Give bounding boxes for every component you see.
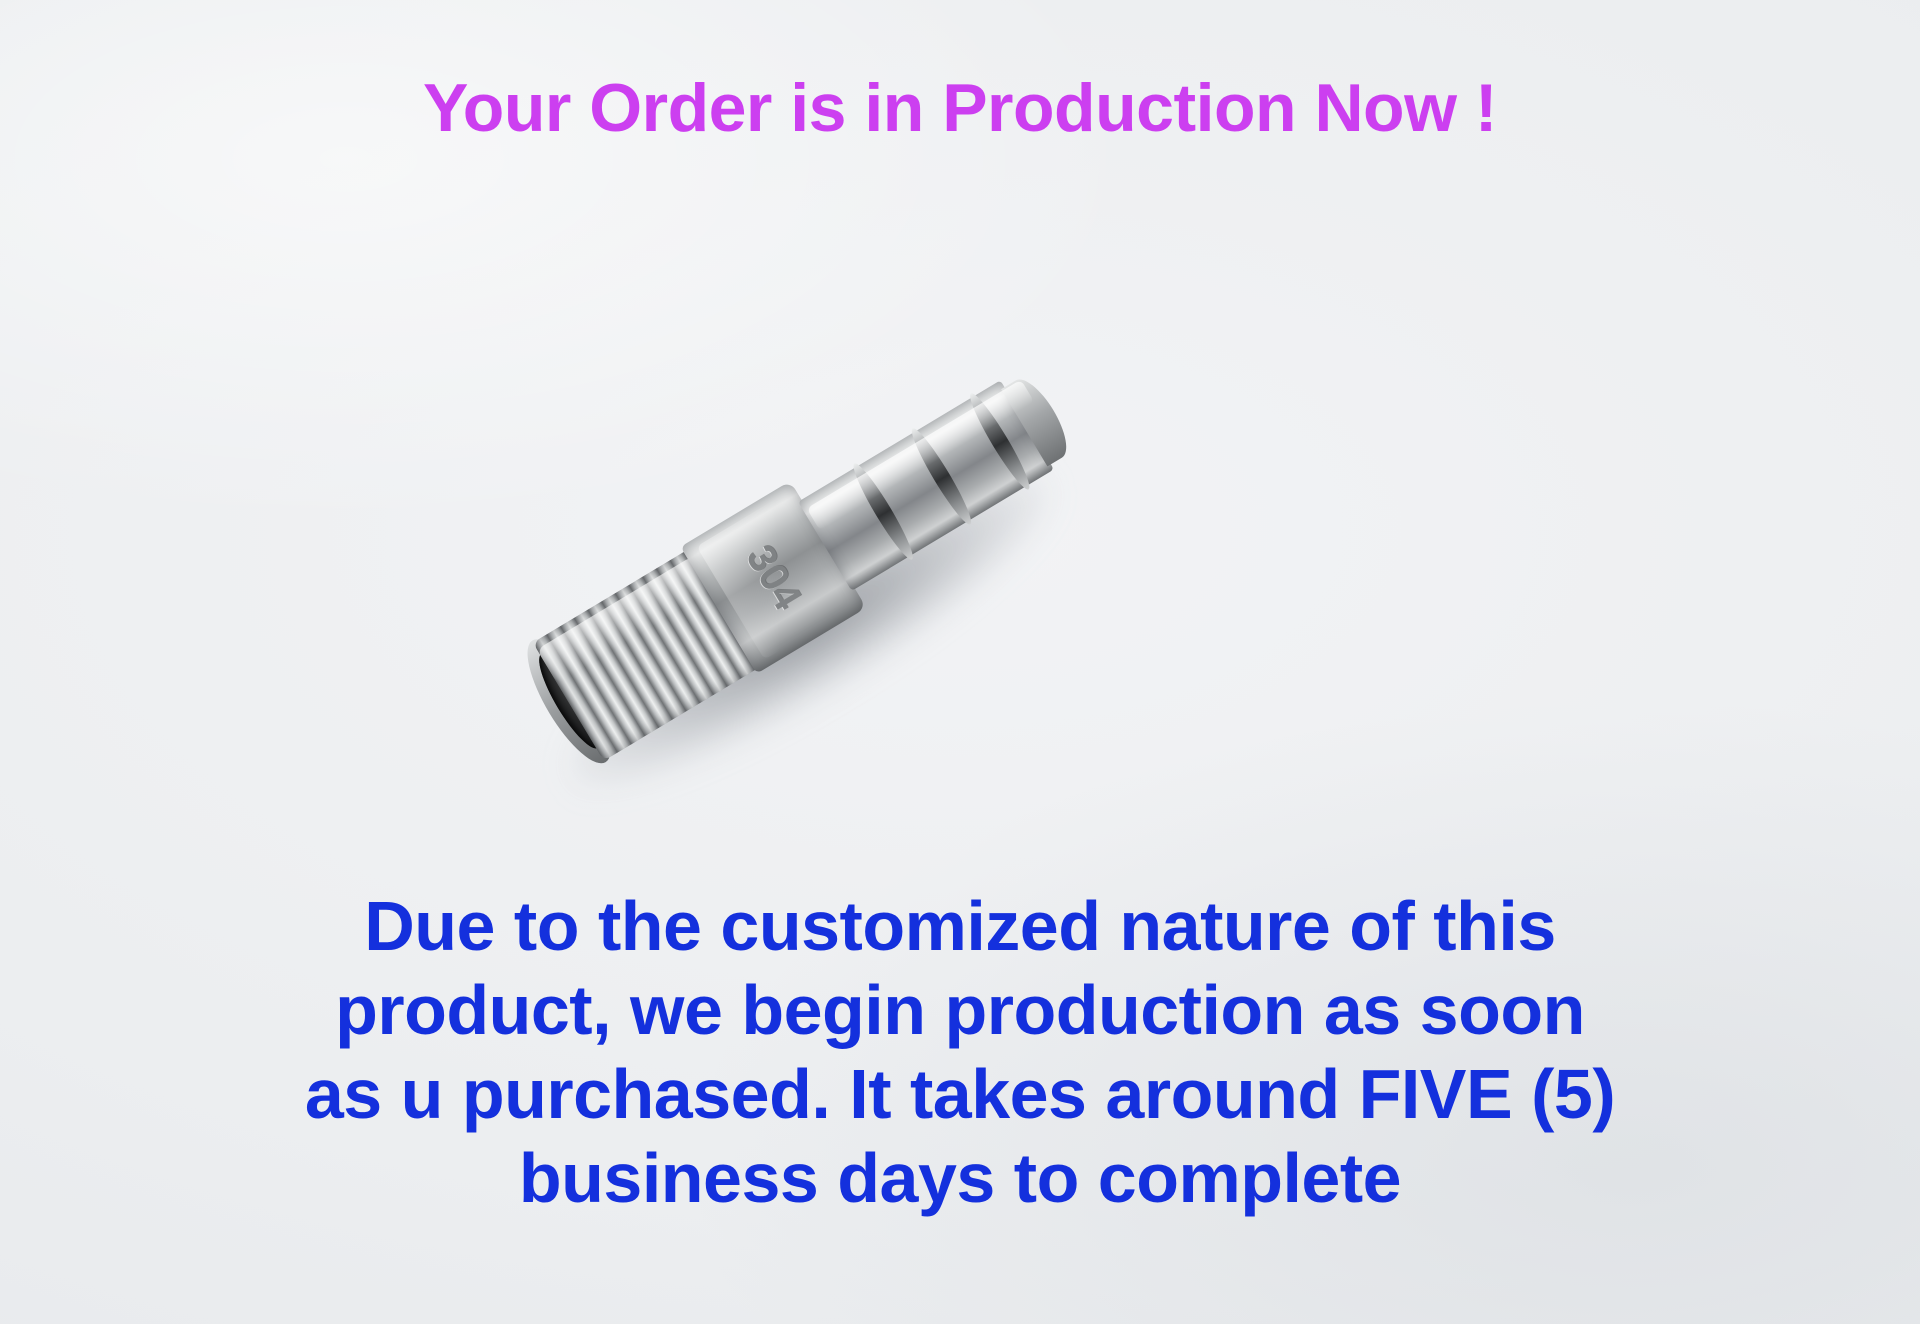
body-line-4: business days to complete [0, 1136, 1920, 1220]
body-line-3: as u purchased. It takes around FIVE (5) [0, 1052, 1920, 1136]
product-photo: 304 [420, 270, 1240, 770]
body-line-1: Due to the customized nature of this [0, 884, 1920, 968]
production-lead-time-message: Due to the customized nature of this pro… [0, 884, 1920, 1220]
headline-text: Your Order is in Production Now ! [0, 74, 1920, 142]
body-line-2: product, we begin production as soon [0, 968, 1920, 1052]
production-notice-poster: Your Order is in Production Now ! 304 Du… [0, 0, 1920, 1324]
hose-barb-fitting-illustration: 304 [350, 95, 1310, 946]
